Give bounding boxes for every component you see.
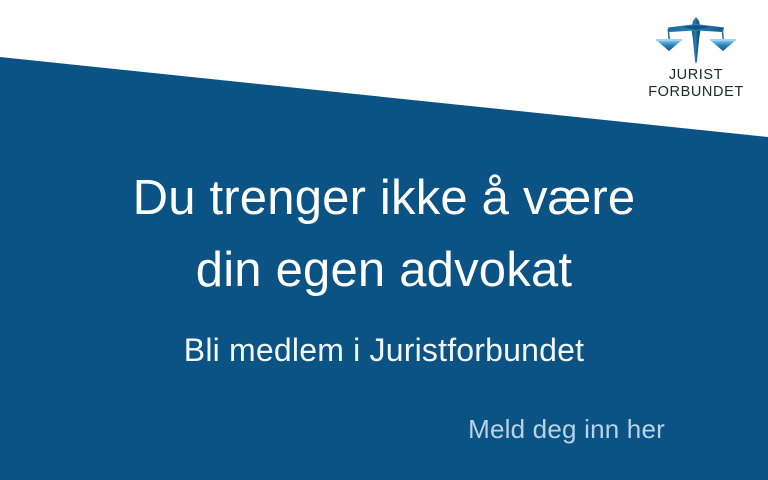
logo-wordmark-line-2: FORBUNDET xyxy=(636,84,756,101)
advertisement-banner: JURIST FORBUNDET Du trenger ikke å være … xyxy=(0,0,768,480)
logo-wordmark-line-1: JURIST xyxy=(636,67,756,84)
headline-line-2: din egen advokat xyxy=(0,234,768,306)
subtitle: Bli medlem i Juristforbundet xyxy=(0,330,768,370)
headline: Du trenger ikke å være din egen advokat xyxy=(0,162,768,306)
logo-wordmark: JURIST FORBUNDET xyxy=(636,67,756,101)
juristforbundet-logo[interactable]: JURIST FORBUNDET xyxy=(636,14,756,100)
scales-of-justice-icon xyxy=(654,14,738,64)
headline-line-1: Du trenger ikke å være xyxy=(0,162,768,234)
signup-cta-link[interactable]: Meld deg inn her xyxy=(0,412,768,446)
